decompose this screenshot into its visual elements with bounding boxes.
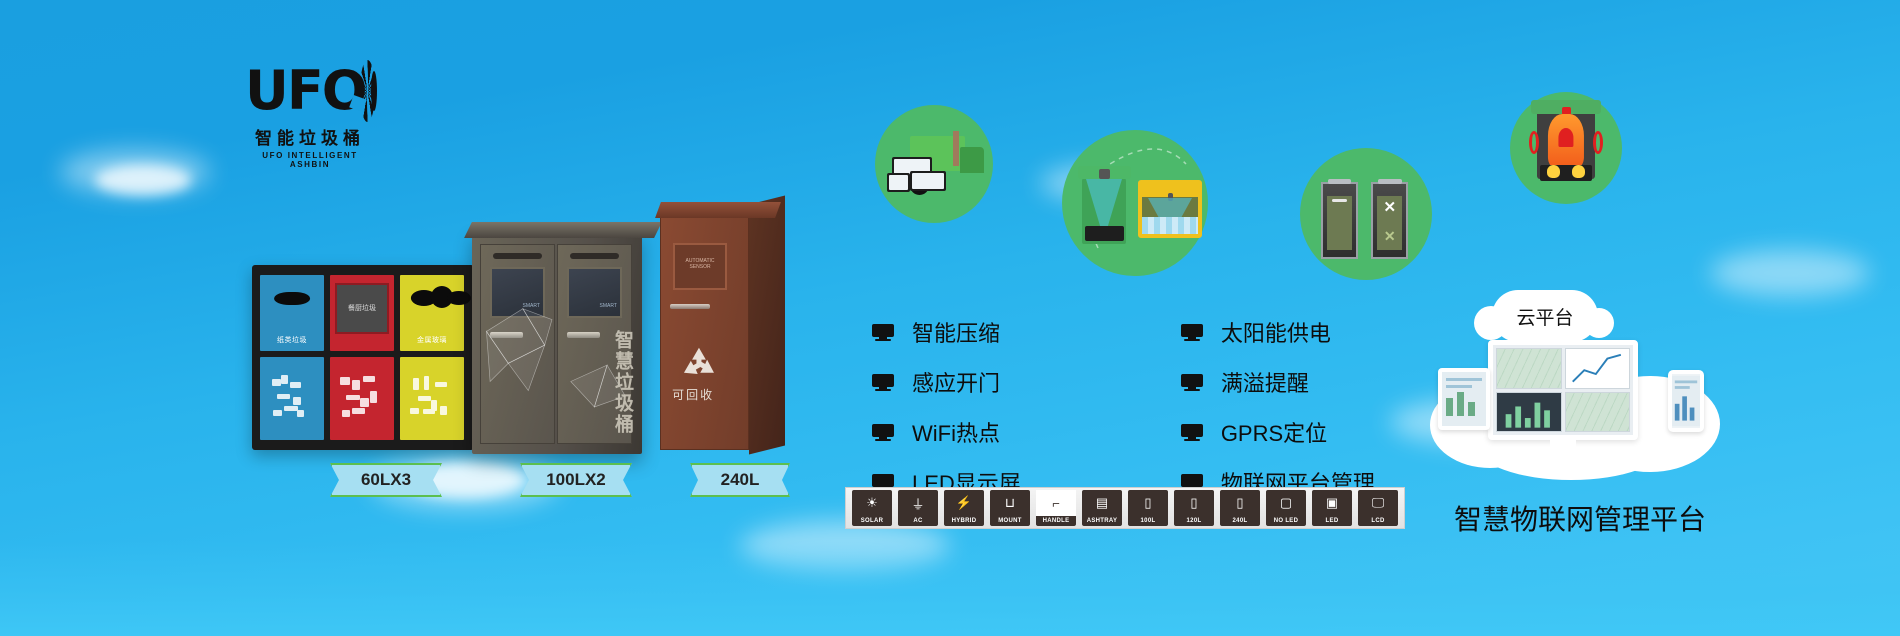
bin-compartment-metal-glass: 金属玻璃 — [400, 275, 464, 440]
cloud-platform-illustration: 云平台 — [1430, 290, 1710, 490]
cloud-slot-icon — [411, 286, 453, 308]
badge-label: HYBRID — [944, 516, 984, 526]
truck-cab-icon — [960, 147, 984, 173]
brand-logo: UFO 智能垃圾桶 UFO INTELLIGENT ASHBIN — [245, 60, 375, 169]
monitor-icon — [1181, 324, 1203, 341]
badge-label: 120L — [1174, 516, 1214, 526]
monitor-base — [1527, 450, 1599, 457]
screen-panel-chart — [1565, 348, 1631, 389]
logo-wordmark: UFO — [245, 64, 366, 118]
bin-display-panel: SMART — [490, 267, 545, 318]
monitor-icon — [872, 424, 894, 441]
door-handle — [670, 304, 710, 309]
monitor-stand — [1550, 435, 1576, 451]
led-panel-icon: ▣ — [1312, 490, 1352, 516]
bottom-gradient-band — [0, 540, 1900, 636]
bin-display-panel: SMART — [567, 267, 622, 318]
monitor-screen — [1493, 345, 1633, 435]
badge-led[interactable]: ▣ LED — [1312, 490, 1352, 526]
feature-label: 太阳能供电 — [1221, 316, 1331, 348]
badge-handle[interactable]: ⌐ HANDLE — [1036, 490, 1076, 526]
bin-body: AUTOMATIC SENSOR 可回收 — [660, 214, 749, 450]
sensor-strip — [493, 253, 543, 259]
bin-compartment-paper: 纸类垃圾 — [260, 275, 324, 440]
handle-icon: ⌐ — [1036, 490, 1076, 516]
badge-no-led[interactable]: ▢ NO LED — [1266, 490, 1306, 526]
feature-label: 满溢提醒 — [1221, 366, 1309, 398]
monitor-icon — [872, 374, 894, 391]
illustration-circle-compact: ✕ ✕ — [1300, 148, 1432, 280]
badge-label: HANDLE — [1036, 516, 1076, 526]
door-handle — [490, 332, 523, 338]
badge-label: MOUNT — [990, 516, 1030, 526]
bin-240l-icon: ▯ — [1220, 490, 1260, 516]
screen-panel-map-2 — [1565, 392, 1631, 433]
no-led-icon: ▢ — [1266, 490, 1306, 516]
wall-mount-icon: ⊔ — [990, 490, 1030, 516]
tablet-icon — [910, 171, 945, 191]
platform-title: 智慧物联网管理平台 — [1370, 498, 1790, 538]
badge-solar[interactable]: ☀ SOLAR — [852, 490, 892, 526]
litter-graphic — [406, 369, 457, 429]
badge-label: LED — [1312, 516, 1352, 526]
oval-slot-icon — [274, 292, 310, 305]
ashtray-icon: ▤ — [1082, 490, 1122, 516]
badge-mount[interactable]: ⊔ MOUNT — [990, 490, 1030, 526]
illustration-circle-fleet — [875, 105, 993, 223]
badge-hybrid[interactable]: ⚡ HYBRID — [944, 490, 984, 526]
feature-item: WiFi热点 — [872, 416, 1021, 448]
badge-120l[interactable]: ▯ 120L — [1174, 490, 1214, 526]
alarm-bell-icon — [1558, 128, 1573, 147]
bin-display-panel: 餐厨垃圾 — [335, 283, 389, 335]
tablet-screen — [1442, 372, 1486, 426]
banner-stage: UFO 智能垃圾桶 UFO INTELLIGENT ASHBIN 纸类垃圾 — [0, 0, 1900, 636]
monitor-icon — [1181, 374, 1203, 391]
compartment-label: 金属玻璃 — [400, 335, 464, 345]
feature-item: 智能压缩 — [872, 316, 1021, 348]
sensor-strip — [570, 253, 620, 259]
alarm-wave-icon — [1529, 131, 1539, 155]
hybrid-power-icon: ⚡ — [944, 490, 984, 516]
bin-compartment-kitchen: 餐厨垃圾 — [330, 275, 394, 440]
feature-label: 智能压缩 — [912, 316, 1000, 348]
bin-side-panel — [749, 196, 785, 455]
badge-100l[interactable]: ▯ 100L — [1128, 490, 1168, 526]
compacting-bin-icon — [1321, 182, 1358, 259]
illustration-circle-sensor — [1062, 130, 1208, 276]
badge-label: 100L — [1128, 516, 1168, 526]
truck-arm-icon — [953, 131, 959, 166]
monitor-icon — [1181, 424, 1203, 441]
bin-side-text: 智慧垃圾桶 — [609, 330, 636, 435]
feature-item: 满溢提醒 — [1181, 366, 1375, 398]
fire-alarm-bin-icon — [1537, 110, 1595, 179]
product-bin-100lx2: AUTOMATIC SENSOR SMART AUTOMATIC SENSOR … — [472, 232, 642, 454]
phone-icon — [887, 173, 911, 192]
compartment-label: 餐厨垃圾 — [337, 303, 387, 313]
feature-item: 太阳能供电 — [1181, 316, 1375, 348]
feature-label: WiFi热点 — [912, 416, 1000, 448]
feature-column-1: 智能压缩 感应开门 WiFi热点 LED显示屏 — [872, 316, 1021, 498]
phone-device — [1668, 370, 1704, 432]
feature-label: 感应开门 — [912, 366, 1000, 398]
illustration-circle-fire — [1510, 92, 1622, 204]
monitor-icon — [872, 324, 894, 341]
tablet-device — [1438, 368, 1490, 430]
fill-level-container-icon — [1138, 180, 1202, 238]
bin-120l-icon: ▯ — [1174, 490, 1214, 516]
ufo-ring-icon — [360, 60, 375, 122]
sensor-bin-icon — [1082, 177, 1126, 244]
display-caption-en: AUTOMATIC SENSOR — [675, 258, 725, 270]
screen-panel-map — [1496, 348, 1562, 389]
bin-lid — [464, 222, 662, 238]
badge-label: ASHTRAY — [1082, 516, 1122, 526]
bin-door-left: AUTOMATIC SENSOR SMART — [480, 244, 555, 444]
bin-front-text: 可回收 — [666, 386, 720, 403]
litter-graphic — [336, 369, 387, 429]
feature-item: GPRS定位 — [1181, 416, 1375, 448]
alarm-wave-icon — [1593, 131, 1603, 155]
feature-item: 感应开门 — [872, 366, 1021, 398]
cloud-decor — [95, 165, 191, 195]
bin-lid — [655, 202, 781, 218]
logo-chinese-name: 智能垃圾桶 — [245, 124, 375, 149]
badge-ashtray[interactable]: ▤ ASHTRAY — [1082, 490, 1122, 526]
capacity-badge-60lx3: 60LX3 — [330, 463, 442, 497]
capacity-badge-240l: 240L — [690, 463, 790, 497]
bin-100l-icon: ▯ — [1128, 490, 1168, 516]
badge-label: NO LED — [1266, 516, 1306, 526]
badge-label: 240L — [1220, 516, 1260, 526]
logo-english-name: UFO INTELLIGENT ASHBIN — [245, 151, 375, 169]
power-plug-icon: ⏚ — [898, 490, 938, 516]
compartment-label: 纸类垃圾 — [260, 335, 324, 345]
desktop-monitor — [1488, 340, 1638, 440]
feature-list: 智能压缩 感应开门 WiFi热点 LED显示屏 太阳能供电 满溢提醒 — [872, 316, 1375, 498]
door-handle — [567, 332, 600, 338]
badge-240l[interactable]: ▯ 240L — [1220, 490, 1260, 526]
product-bin-60lx3: 纸类垃圾 餐厨垃圾 — [252, 265, 474, 450]
phone-screen — [1672, 374, 1700, 428]
badge-label: SOLAR — [852, 516, 892, 526]
spec-badge-strip: ☀ SOLAR ⏚ AC ⚡ HYBRID ⊔ MOUNT ⌐ HANDLE ▤… — [845, 487, 1405, 529]
recycle-icon — [678, 344, 720, 384]
cloud-platform-label: 云平台 — [1492, 290, 1598, 342]
capacity-badge-100lx2: 100LX2 — [520, 463, 632, 497]
compacting-bin-icon: ✕ ✕ — [1371, 182, 1408, 259]
feature-label: GPRS定位 — [1221, 416, 1327, 448]
screen-panel-status — [1496, 392, 1562, 433]
product-bin-240l: AUTOMATIC SENSOR 可回收 — [660, 200, 780, 455]
feature-column-2: 太阳能供电 满溢提醒 GPRS定位 物联网平台管理 — [1181, 316, 1375, 498]
badge-ac[interactable]: ⏚ AC — [898, 490, 938, 526]
sun-icon: ☀ — [852, 490, 892, 516]
badge-label: AC — [898, 516, 938, 526]
litter-graphic — [266, 369, 317, 429]
bin-display-panel: AUTOMATIC SENSOR — [673, 243, 727, 290]
cloud-decor — [1710, 250, 1870, 296]
